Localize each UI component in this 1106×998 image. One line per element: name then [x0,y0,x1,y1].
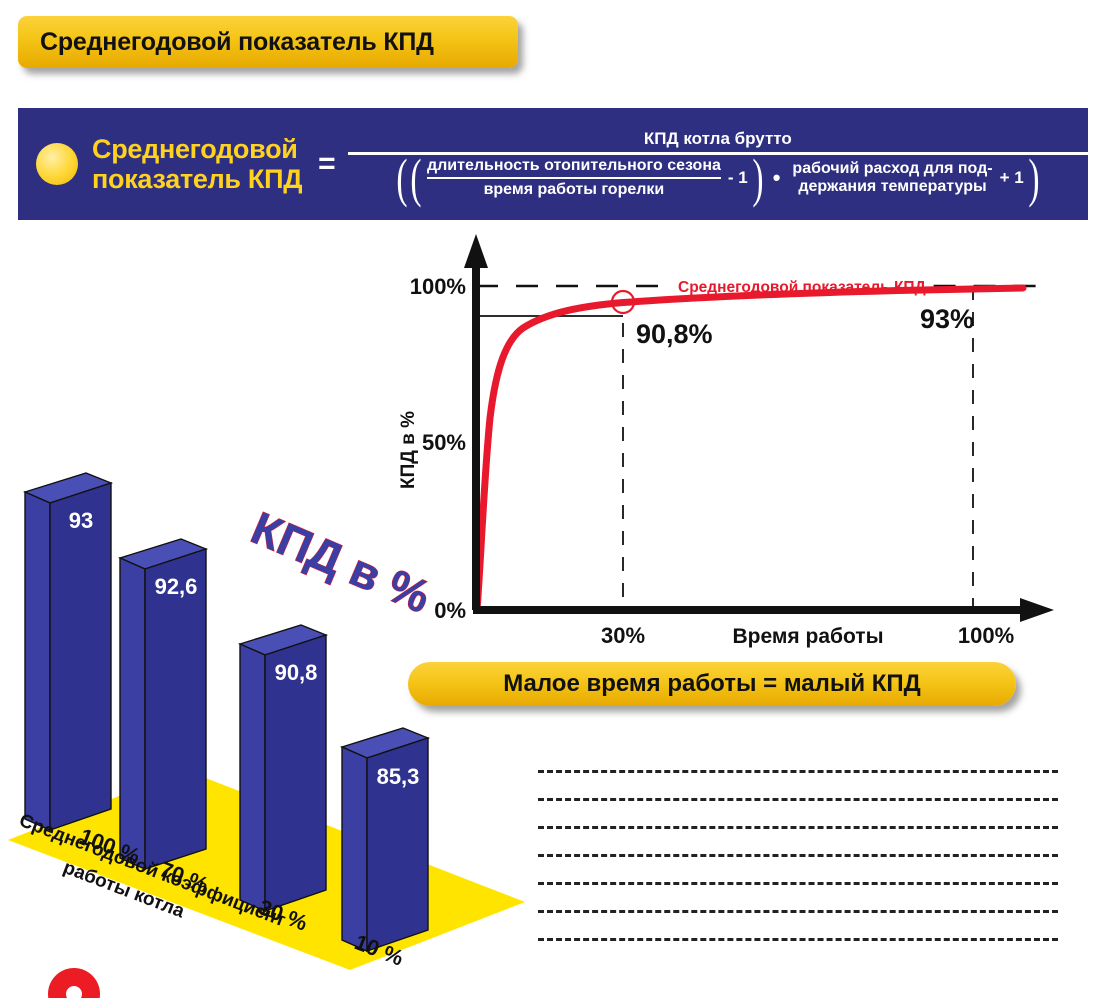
x-axis-title: Время работы [732,625,883,648]
factor-line1: рабочий расход для под- [792,160,992,178]
slide-canvas: Среднегодовой показатель КПД Среднегодов… [0,0,1106,998]
dot-operator: • [773,165,781,191]
formula-panel: Среднегодовой показатель КПД = КПД котла… [18,108,1088,220]
bar-value-label: 93 [69,508,93,533]
note-line [538,770,1058,773]
red-bullet-inner-hole [66,986,82,998]
bar-right-face [50,483,111,830]
formula-fraction: КПД котла брутто ( ( длительность отопит… [348,129,1088,199]
formula-numerator: КПД котла брутто [348,129,1088,152]
efficiency-curve [477,288,1023,610]
note-line [538,910,1058,913]
title-banner: Среднегодовой показатель КПД [18,16,518,68]
bar-left-face [240,644,265,911]
note-line [538,798,1058,801]
formula-label: Среднегодовой показатель КПД [92,134,302,194]
bar-10pct: 85,3 [342,728,428,951]
bar-30pct: 90,8 [240,625,326,911]
note-line [538,854,1058,857]
open-paren-inner: ( [410,157,421,199]
y-tick-label-50: 50% [422,430,466,455]
bar-left-face [120,558,145,869]
x-tick-label-100: 100% [958,623,1014,648]
y-axis-arrow-icon [464,234,488,268]
bar-value-label: 90,8 [275,660,318,685]
open-paren-outer: ( [396,157,407,199]
minus-one-term: - 1 [728,168,748,188]
yellow-dot-icon [36,143,78,185]
x-axis-arrow-icon [1020,598,1054,622]
page-title: Среднегодовой показатель КПД [18,28,434,57]
formula-denominator: ( ( длительность отопительного сезона вр… [348,155,1088,199]
bar-chart-svg: 85,3 90,8 92,6 93 [0,470,540,998]
boiler-efficiency-bar-chart: 85,3 90,8 92,6 93 [0,470,540,998]
bar-left-face [342,747,367,951]
bar-value-label: 92,6 [155,574,198,599]
bar-100pct: 93 [25,473,111,830]
inner-numerator: длительность отопительного сезона [427,157,721,177]
bar-70pct: 92,6 [120,539,206,869]
close-paren-inner: ) [752,157,763,199]
annotation-93: 93% [920,304,974,334]
inner-denominator: время работы горелки [427,179,721,199]
close-paren-outer: ) [1028,157,1039,199]
note-line [538,826,1058,829]
y-tick-label-100: 100% [410,274,466,299]
factor-term: рабочий расход для под- держания темпера… [792,160,992,195]
bar-chart-diagonal-label: КПД в % [244,501,438,623]
inner-fraction: длительность отопительного сезона время … [427,157,721,199]
plus-one-term: + 1 [1000,168,1024,188]
x-tick-label-30: 30% [601,623,645,648]
note-lines [538,770,1058,966]
note-line [538,938,1058,941]
factor-line2: держания температуры [792,178,992,196]
note-line [538,882,1058,885]
formula-label-line1: Среднегодовой [92,134,302,164]
formula-label-line2: показатель КПД [92,164,302,194]
annotation-908: 90,8% [636,319,713,349]
bar-left-face [25,492,50,830]
conclusion-text: Малое время работы = малый КПД [503,670,921,698]
bar-value-label: 85,3 [377,764,420,789]
equals-sign: = [318,147,336,181]
